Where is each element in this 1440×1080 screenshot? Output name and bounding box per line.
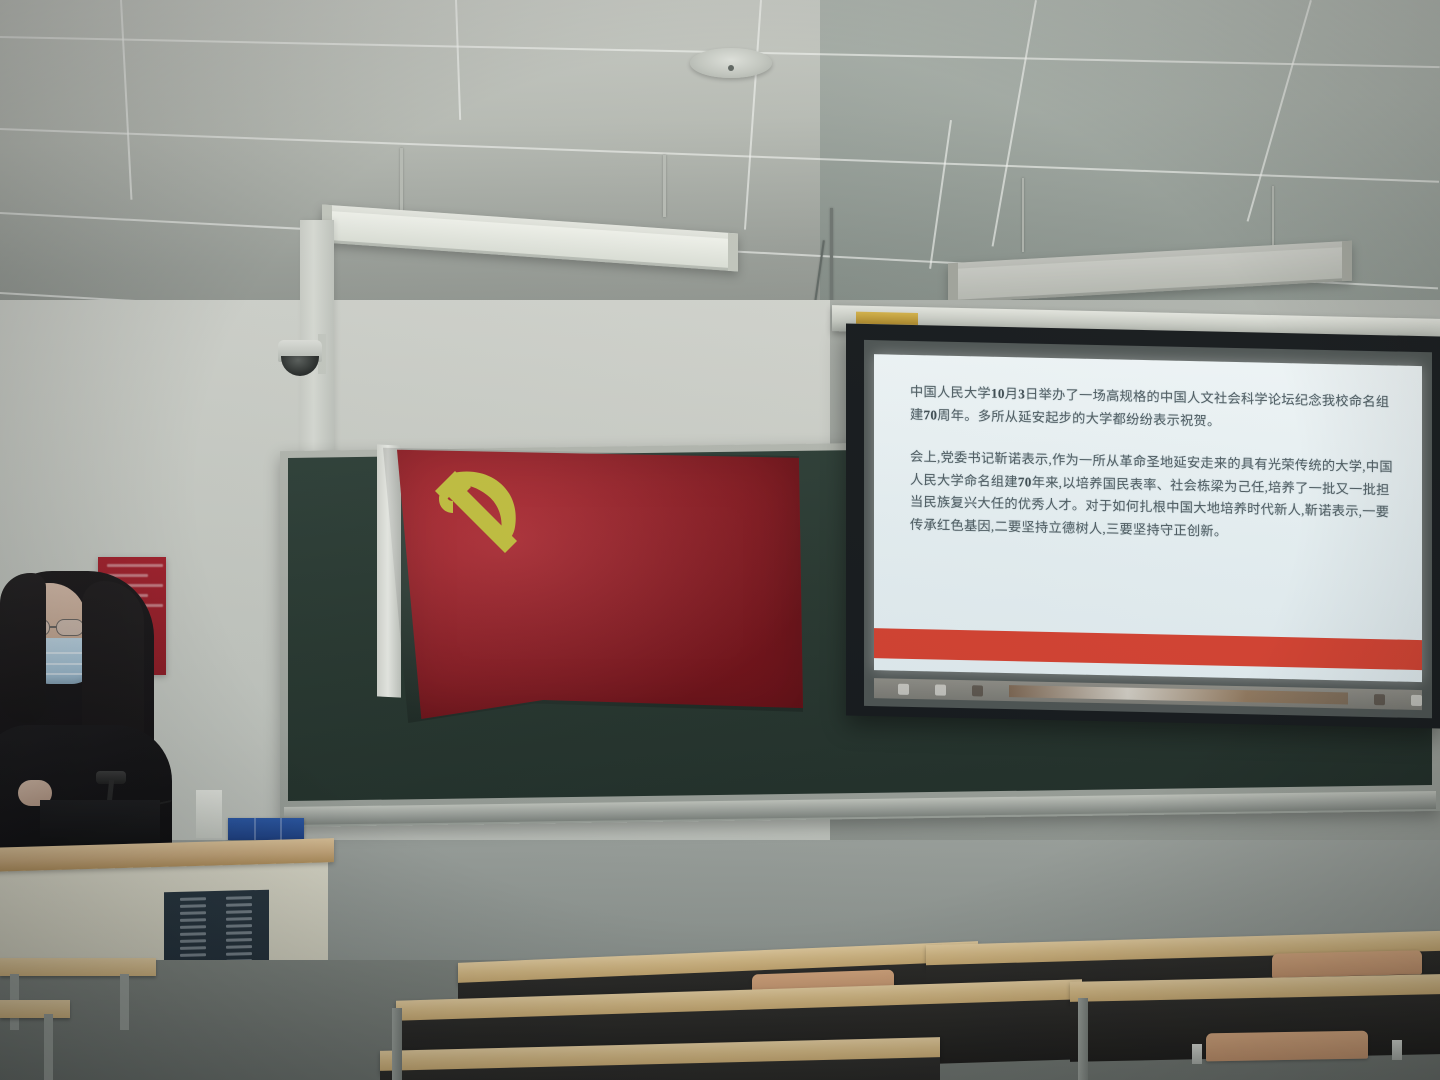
party-flag [383,445,803,723]
seat-backrest [1272,950,1422,978]
projection-screen: 中国人民大学10月3日举办了一场高规格的中国人文社会科学论坛纪念我校命名组建70… [846,324,1440,729]
podium-equipment [40,800,160,844]
desktop-taskbar[interactable] [874,678,1422,710]
blue-box-item [228,818,304,840]
light-hanger-rod [663,155,666,217]
table-top [0,958,156,976]
smoke-detector-icon [690,48,772,78]
box-divider [254,818,256,840]
taskbar-icon[interactable] [1374,694,1385,705]
projection-surface: 中国人民大学10月3日举办了一场高规格的中国人文社会科学论坛纪念我校命名组建70… [864,340,1432,718]
glasses-bridge [50,626,57,628]
presenter-hair-front [0,573,46,723]
taskbar-icon[interactable] [898,683,909,694]
table-leg [120,974,129,1030]
seat-support-post [1392,1040,1402,1060]
desk-leg [1078,998,1088,1080]
table-leg [44,1014,53,1080]
taskbar-icon[interactable] [935,684,946,695]
seat-support-post [1192,1044,1202,1064]
flag-hoist-strip [377,444,401,697]
slide-paragraph-2: 会上,党委书记靳诺表示,作为一所从革命圣地延安走来的具有光荣传统的大学,中国人民… [910,446,1396,547]
light-hanger-rod [400,148,403,214]
side-table-lower [0,1000,70,1080]
table-top [0,1000,70,1018]
box-divider [280,818,282,840]
taskbar-window-strip[interactable] [1009,685,1348,704]
glasses-lens-right [56,619,84,636]
taskbar-icon[interactable] [972,685,983,696]
desk-leg [392,1008,402,1080]
security-camera-icon [276,340,324,376]
classroom-scene: 中国人民大学10月3日举办了一场高规格的中国人文社会科学论坛纪念我校命名组建70… [0,0,1440,1080]
slide-accent-bar [874,628,1422,670]
fixture-endcap [728,233,738,272]
camera-dome [281,356,319,376]
slide-text-body: 中国人民大学10月3日举办了一场高规格的中国人文社会科学论坛纪念我校命名组建70… [910,381,1396,547]
seat-backrest [1206,1031,1368,1062]
fixture-endcap [948,263,958,304]
fixture-endcap [1342,241,1352,282]
presentation-slide: 中国人民大学10月3日举办了一场高规格的中国人文社会科学论坛纪念我校命名组建70… [874,354,1422,682]
hammer-and-sickle-icon [423,455,543,560]
podium-white-item [196,790,222,838]
taskbar-icon[interactable] [1411,694,1422,705]
slide-paragraph-1: 中国人民大学10月3日举办了一场高规格的中国人文社会科学论坛纪念我校命名组建70… [910,381,1396,437]
light-hanger-rod [1022,178,1024,252]
